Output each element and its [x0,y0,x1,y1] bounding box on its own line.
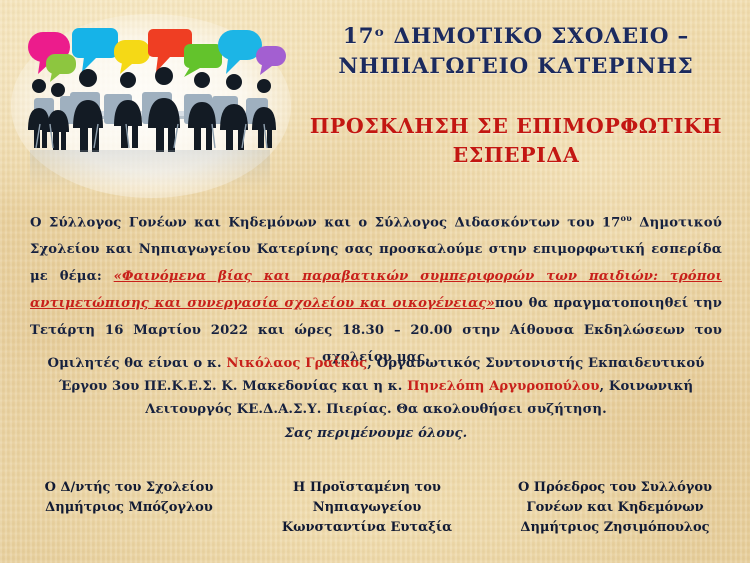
invitation-title-line1: ΠΡΟΣΚΛΗΣΗ ΣΕ ΕΠΙΜΟΡΦΩΤΙΚΗ [290,112,742,141]
invitation-body: Ο Σύλλογος Γονέων και Κηδεμόνων και ο Σύ… [30,205,722,371]
signature-principal-role: Ο Δ/ντής του Σχολείου [14,478,244,498]
speaker-name-2: Πηνελόπη Αργυροπούλου [407,379,599,394]
signature-principal-name: Δημήτριος Μπόζογλου [14,498,244,518]
school-title: 17ᵒ ΔΗΜΟΤΙΚΟ ΣΧΟΛΕΙΟ – ΝΗΠΙΑΓΩΓΕΙΟ ΚΑΤΕΡ… [290,22,742,82]
meeting-illustration [6,6,296,198]
signature-kindergarten-name: Κωνσταντίνα Ευταξία [252,518,482,538]
body-ordinal-suffix: ου [621,213,632,223]
school-title-line2: ΝΗΠΙΑΓΩΓΕΙΟ ΚΑΤΕΡΙΝΗΣ [290,52,742,82]
signature-parents-president: Ο Πρόεδρος του Συλλόγου Γονέων και Κηδεμ… [490,478,740,538]
invitation-poster: 17ᵒ ΔΗΜΟΤΙΚΟ ΣΧΟΛΕΙΟ – ΝΗΠΙΑΓΩΓΕΙΟ ΚΑΤΕΡ… [0,0,750,563]
signature-president-name: Δημήτριος Ζησιμόπουλος [490,518,740,538]
school-title-line1: 17ᵒ ΔΗΜΟΤΙΚΟ ΣΧΟΛΕΙΟ – [290,22,742,52]
signature-president-role-2: Γονέων και Κηδεμόνων [490,498,740,518]
signature-block: Ο Δ/ντής του Σχολείου Δημήτριος Μπόζογλο… [14,478,740,538]
signature-principal: Ο Δ/ντής του Σχολείου Δημήτριος Μπόζογλο… [14,478,244,518]
invitation-title: ΠΡΟΣΚΛΗΣΗ ΣΕ ΕΠΙΜΟΡΦΩΤΙΚΗ ΕΣΠΕΡΙΔΑ [290,112,742,170]
closing-line: Σας περιμένουμε όλους. [30,422,722,445]
speaker-name-1: Νικόλαος Γραίκος [226,356,367,371]
signature-kindergarten-role-2: Νηπιαγωγείου [252,498,482,518]
floor-reflection [30,150,270,188]
speakers-intro: Ομιλητές θα είναι ο κ. [48,356,227,371]
invitation-title-line2: ΕΣΠΕΡΙΔΑ [290,141,742,170]
body-part-1: Ο Σύλλογος Γονέων και Κηδεμόνων και ο Σύ… [30,215,621,230]
signature-president-role-1: Ο Πρόεδρος του Συλλόγου [490,478,740,498]
signature-kindergarten-role-1: Η Προϊσταμένη του [252,478,482,498]
speakers-section: Ομιλητές θα είναι ο κ. Νικόλαος Γραίκος,… [30,352,722,445]
signature-kindergarten-head: Η Προϊσταμένη του Νηπιαγωγείου Κωνσταντί… [252,478,482,538]
